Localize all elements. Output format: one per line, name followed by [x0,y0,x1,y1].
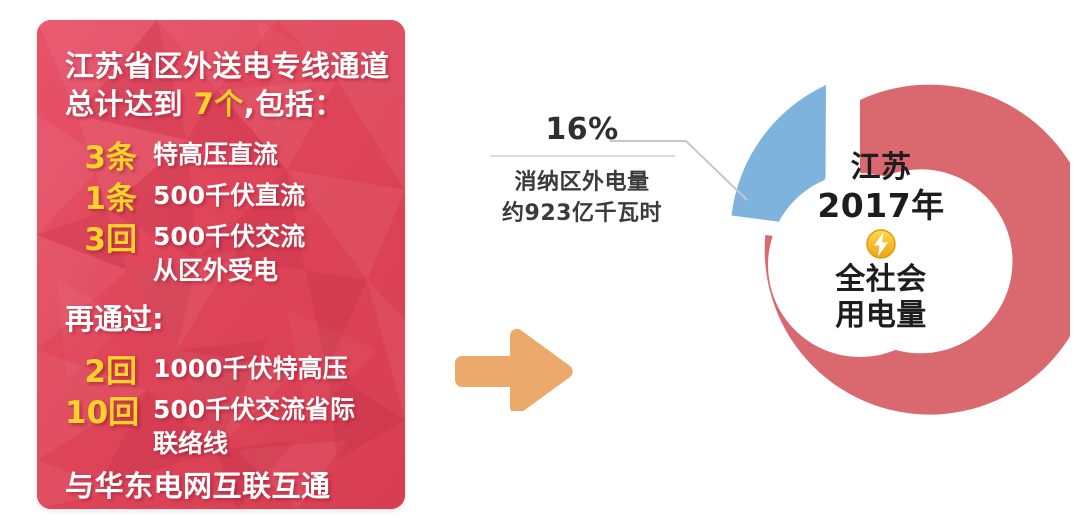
red-summary-card: 江苏省区外送电专线通道 总计达到 7个,包括： 3条 特高压直流 1条 500千… [37,20,405,509]
list-item-desc-line2: 从区外受电 [153,254,395,288]
list-item-desc-line1: 500千伏直流 [153,181,305,210]
donut-center-hole [768,173,952,357]
list-item-count: 2回 [65,352,153,392]
card-mid-label: 再通过: [65,300,164,338]
card-header-line-2: 总计达到 7个,包括： [65,85,395,123]
list-item: 2回 1000千伏特高压 [65,352,395,392]
list-item-desc-line1: 特高压直流 [153,140,278,169]
list-item-desc: 1000千伏特高压 [153,352,395,386]
card-text-layer: 江苏省区外送电专线通道 总计达到 7个,包括： 3条 特高压直流 1条 500千… [37,20,405,509]
list-item-desc: 500千伏交流 从区外受电 [153,220,395,288]
list-item-desc-line1: 1000千伏特高压 [153,354,348,383]
callout-label: 16% 消纳区外电量 约923亿千瓦时 [482,112,682,229]
card-header-highlight-total: 7个 [194,87,244,121]
list-item: 3条 特高压直流 [65,138,395,178]
donut-chart [590,30,1070,500]
list-item-count: 3条 [65,138,153,178]
arrow-right-icon [452,325,592,411]
list-item-desc: 特高压直流 [153,138,395,172]
callout-percent-value: 16% [482,112,682,148]
list-item: 1条 500千伏直流 [65,179,395,219]
list-item-desc-line1: 500千伏交流省际 [153,395,355,424]
card-header-line-1: 江苏省区外送电专线通道 [65,47,395,85]
list-item-count: 3回 [65,220,153,260]
card-header-suffix: ,包括： [244,87,344,121]
callout-divider [490,155,675,157]
list-item-desc: 500千伏交流省际 联络线 [153,393,395,461]
list-item-desc-line2: 联络线 [153,427,395,461]
list-item-desc: 500千伏直流 [153,179,395,213]
card-footer-line: 与华东电网互联互通 [65,467,331,505]
callout-text-line2: 约923亿千瓦时 [482,198,682,229]
list-item-desc-line1: 500千伏交流 [153,222,305,251]
card-header-prefix: 总计达到 [65,87,194,121]
callout-text-line1: 消纳区外电量 [482,167,682,198]
list-item-count: 10回 [65,393,153,433]
list-item: 3回 500千伏交流 从区外受电 [65,220,395,288]
list-item-count: 1条 [65,179,153,219]
infographic-canvas: 江苏省区外送电专线通道 总计达到 7个,包括： 3条 特高压直流 1条 500千… [0,0,1080,528]
list-item: 10回 500千伏交流省际 联络线 [65,393,395,461]
